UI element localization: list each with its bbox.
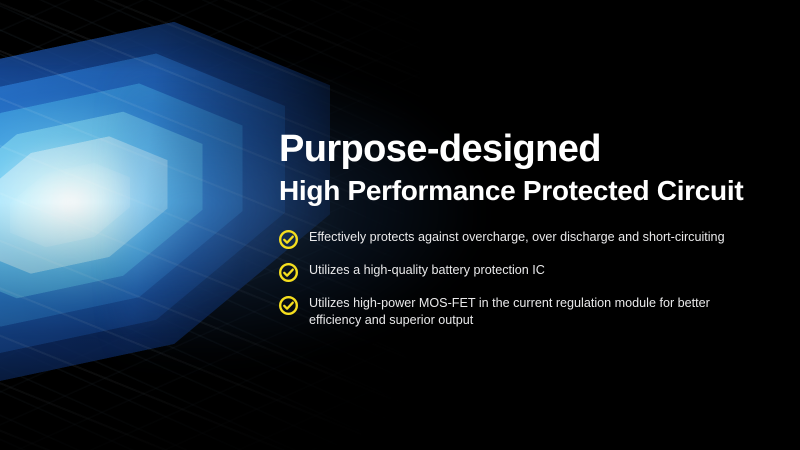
feature-list: Effectively protects against overcharge,… [279, 229, 759, 342]
text-content: Purpose-designed High Performance Protec… [279, 0, 779, 450]
list-item-label: Utilizes a high-quality battery protecti… [309, 262, 545, 279]
check-circle-icon [279, 296, 298, 315]
list-item: Effectively protects against overcharge,… [279, 229, 759, 249]
list-item: Utilizes a high-quality battery protecti… [279, 262, 759, 282]
list-item-label: Utilizes high-power MOS-FET in the curre… [309, 295, 749, 329]
list-item-label: Effectively protects against overcharge,… [309, 229, 725, 246]
check-circle-icon [279, 263, 298, 282]
check-circle-icon [279, 230, 298, 249]
list-item: Utilizes high-power MOS-FET in the curre… [279, 295, 759, 329]
headline-subtitle: High Performance Protected Circuit [279, 177, 743, 205]
product-feature-banner: Purpose-designed High Performance Protec… [0, 0, 800, 450]
headline-title: Purpose-designed [279, 130, 601, 168]
